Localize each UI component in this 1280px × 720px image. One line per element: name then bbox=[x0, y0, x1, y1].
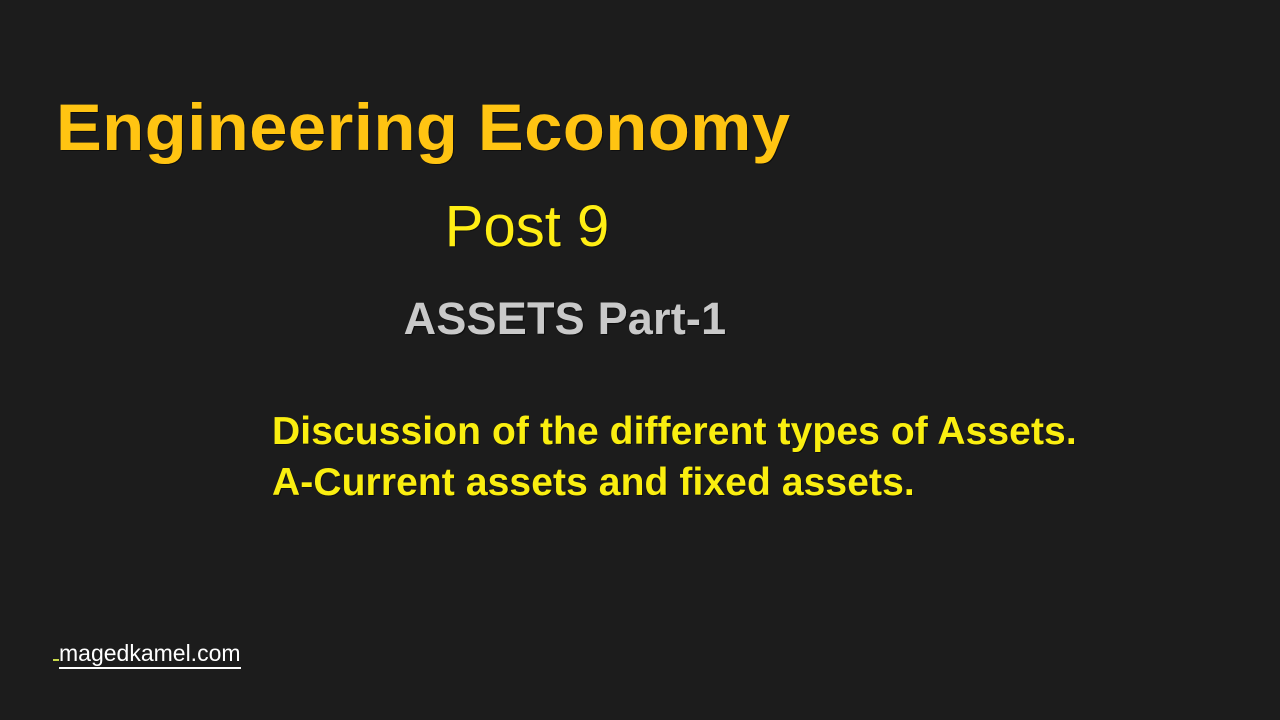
post-number-heading: Post 9 bbox=[0, 198, 1280, 256]
body-line: Discussion of the different types of Ass… bbox=[272, 406, 1172, 457]
slide-subtitle: ASSETS Part-1 bbox=[0, 296, 1280, 341]
page-title: Engineering Economy bbox=[56, 94, 791, 160]
website-link-label: magedkamel.com bbox=[59, 640, 241, 669]
body-line: A-Current assets and fixed assets. bbox=[272, 457, 1172, 508]
slide-body: Discussion of the different types of Ass… bbox=[272, 406, 1172, 508]
presentation-slide: Engineering Economy Post 9 ASSETS Part-1… bbox=[0, 0, 1280, 720]
website-link[interactable]: magedkamel.com bbox=[53, 642, 241, 665]
